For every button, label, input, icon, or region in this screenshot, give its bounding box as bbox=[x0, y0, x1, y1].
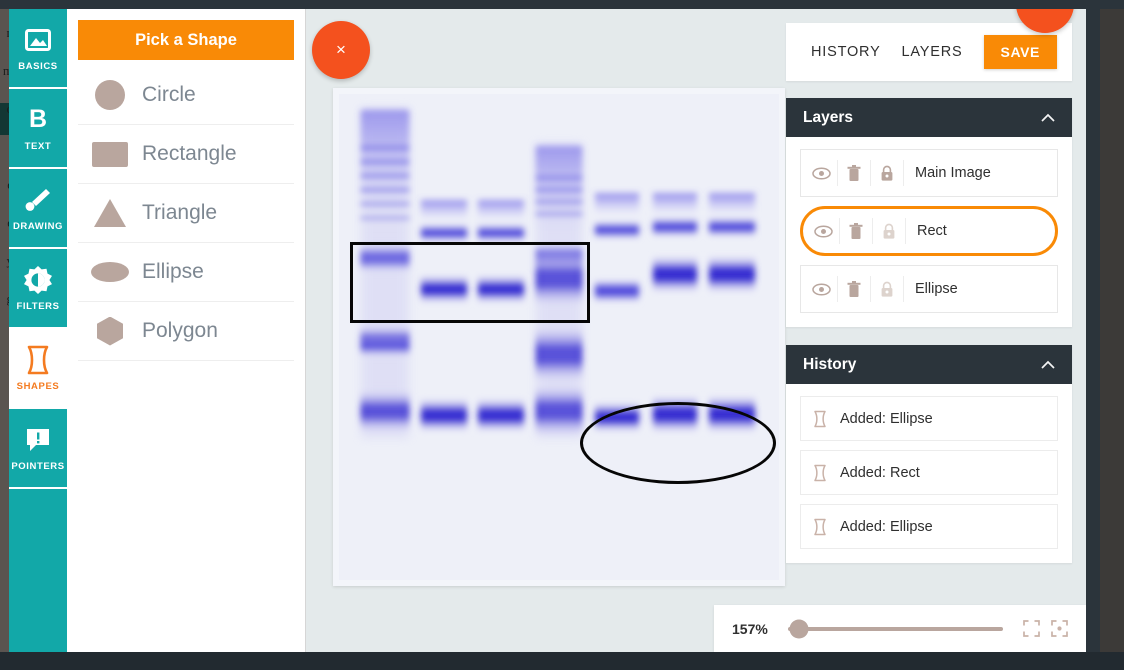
zoom-slider-thumb[interactable] bbox=[789, 619, 808, 638]
fit-screen-icon[interactable] bbox=[1017, 620, 1045, 637]
shape-list: Circle Rectangle Triangle Ellipse Polygo… bbox=[78, 66, 294, 361]
layer-name: Rect bbox=[917, 223, 947, 239]
history-row[interactable]: Added: Rect bbox=[800, 450, 1058, 495]
tool-rail-label: TEXT bbox=[25, 141, 52, 152]
history-panel: History Added: Ellipse Added: Rect bbox=[786, 345, 1072, 563]
history-panel-header[interactable]: History bbox=[786, 345, 1072, 384]
center-focus-icon[interactable] bbox=[1045, 620, 1073, 637]
eye-icon[interactable] bbox=[805, 276, 838, 302]
close-button[interactable]: × bbox=[312, 21, 370, 79]
shape-panel-title: Pick a Shape bbox=[78, 20, 294, 60]
shape-option-label: Rectangle bbox=[142, 142, 237, 166]
history-panel-title: History bbox=[803, 356, 856, 374]
right-sidebar: HISTORY LAYERS SAVE Layers bbox=[786, 23, 1072, 563]
page-right-gutter bbox=[1086, 9, 1100, 652]
tool-rail-item-filters[interactable]: FILTERS bbox=[9, 249, 67, 329]
shape-option-label: Ellipse bbox=[142, 260, 204, 284]
chevron-up-icon[interactable] bbox=[1041, 358, 1055, 372]
eye-icon[interactable] bbox=[805, 160, 838, 186]
history-list: Added: Ellipse Added: Rect Added: Ellips… bbox=[786, 384, 1072, 563]
circle-glyph-icon bbox=[78, 80, 142, 110]
shapes-icon bbox=[813, 464, 827, 482]
annotation-rect-shape[interactable] bbox=[350, 242, 590, 323]
trash-icon[interactable] bbox=[838, 276, 871, 302]
shapes-icon bbox=[813, 410, 827, 428]
image-canvas[interactable] bbox=[333, 88, 785, 586]
shape-option-label: Circle bbox=[142, 83, 196, 107]
tool-rail-item-text[interactable]: B TEXT bbox=[9, 89, 67, 169]
contrast-icon bbox=[23, 265, 53, 295]
history-entry-label: Added: Rect bbox=[840, 465, 920, 481]
tool-rail-label: POINTERS bbox=[11, 461, 64, 472]
eye-icon[interactable] bbox=[807, 218, 840, 244]
layers-panel: Layers Main Image bbox=[786, 98, 1072, 327]
image-editor-modal: BASICS B TEXT DRAWING FI bbox=[9, 9, 1086, 652]
page-bottom-chrome bbox=[0, 652, 1124, 670]
polygon-glyph-icon bbox=[78, 317, 142, 346]
bold-b-icon: B bbox=[23, 105, 53, 135]
page-scrollbar-region[interactable] bbox=[1100, 9, 1124, 652]
shapes-icon bbox=[23, 345, 53, 375]
shape-option-circle[interactable]: Circle bbox=[78, 66, 294, 125]
tool-rail-label: SHAPES bbox=[17, 381, 60, 392]
shape-option-polygon[interactable]: Polygon bbox=[78, 302, 294, 361]
history-entry-label: Added: Ellipse bbox=[840, 519, 933, 535]
shapes-icon bbox=[813, 518, 827, 536]
trash-icon[interactable] bbox=[838, 160, 871, 186]
layers-panel-header[interactable]: Layers bbox=[786, 98, 1072, 137]
lock-icon[interactable] bbox=[871, 276, 904, 302]
tool-rail: BASICS B TEXT DRAWING FI bbox=[9, 9, 67, 652]
history-tab[interactable]: HISTORY bbox=[811, 44, 881, 60]
shape-option-label: Polygon bbox=[142, 319, 218, 343]
shape-picker-panel: Pick a Shape Circle Rectangle Triangle E… bbox=[67, 9, 306, 652]
layers-tab[interactable]: LAYERS bbox=[902, 44, 963, 60]
brush-icon bbox=[23, 185, 53, 215]
history-row[interactable]: Added: Ellipse bbox=[800, 504, 1058, 549]
tool-rail-filler bbox=[9, 489, 67, 652]
lock-icon[interactable] bbox=[873, 218, 906, 244]
layer-name: Main Image bbox=[915, 165, 991, 181]
layer-row-ellipse[interactable]: Ellipse bbox=[800, 265, 1058, 313]
browser-top-chrome bbox=[0, 0, 1124, 9]
triangle-glyph-icon bbox=[78, 199, 142, 227]
tool-rail-label: FILTERS bbox=[16, 301, 59, 312]
zoom-control-bar: 157% bbox=[714, 605, 1086, 652]
tool-rail-label: BASICS bbox=[18, 61, 58, 72]
shape-option-label: Triangle bbox=[142, 201, 217, 225]
close-icon: × bbox=[336, 40, 346, 60]
rectangle-glyph-icon bbox=[78, 142, 142, 167]
zoom-slider[interactable] bbox=[788, 627, 1003, 631]
shape-option-ellipse[interactable]: Ellipse bbox=[78, 243, 294, 302]
save-button[interactable]: SAVE bbox=[984, 35, 1058, 69]
history-entry-label: Added: Ellipse bbox=[840, 411, 933, 427]
callout-icon bbox=[23, 425, 53, 455]
history-row[interactable]: Added: Ellipse bbox=[800, 396, 1058, 441]
image-icon bbox=[23, 25, 53, 55]
tool-rail-item-basics[interactable]: BASICS bbox=[9, 9, 67, 89]
tool-rail-item-shapes[interactable]: SHAPES bbox=[9, 329, 67, 409]
layer-row-main-image[interactable]: Main Image bbox=[800, 149, 1058, 197]
layer-name: Ellipse bbox=[915, 281, 958, 297]
layers-panel-title: Layers bbox=[803, 109, 853, 127]
trash-icon[interactable] bbox=[840, 218, 873, 244]
tool-rail-item-drawing[interactable]: DRAWING bbox=[9, 169, 67, 249]
lock-icon[interactable] bbox=[871, 160, 904, 186]
top-actions-bar: HISTORY LAYERS SAVE bbox=[786, 23, 1072, 81]
ellipse-glyph-icon bbox=[78, 262, 142, 282]
tool-rail-label: DRAWING bbox=[13, 221, 63, 232]
gel-electrophoresis-image bbox=[333, 88, 785, 586]
zoom-level-label: 157% bbox=[732, 621, 774, 637]
shape-option-rectangle[interactable]: Rectangle bbox=[78, 125, 294, 184]
layer-row-rect[interactable]: Rect bbox=[800, 206, 1058, 256]
layers-list: Main Image Rect bbox=[786, 137, 1072, 327]
chevron-up-icon[interactable] bbox=[1041, 111, 1055, 125]
annotation-ellipse-shape[interactable] bbox=[580, 402, 776, 484]
tool-rail-item-pointers[interactable]: POINTERS bbox=[9, 409, 67, 489]
shape-option-triangle[interactable]: Triangle bbox=[78, 184, 294, 243]
